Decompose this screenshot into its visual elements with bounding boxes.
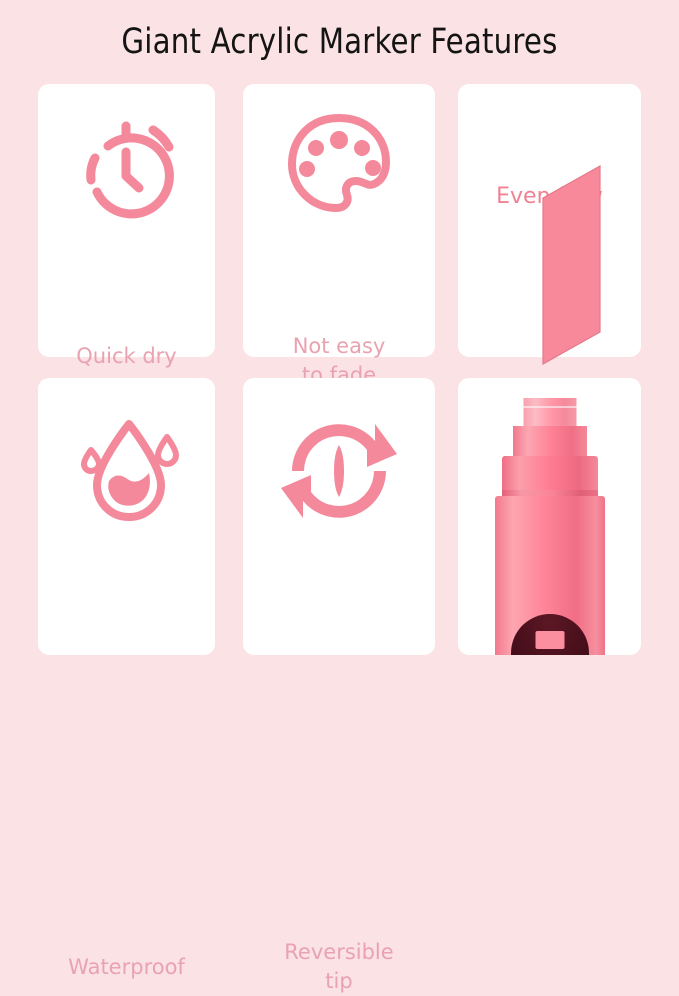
icon-container xyxy=(243,106,435,226)
paint-palette-icon xyxy=(279,108,399,224)
feature-card-waterproof[interactable]: Waterproof xyxy=(38,378,215,655)
feature-label: Quick dry xyxy=(38,342,215,371)
feature-card-not-easy-to-fade[interactable]: Not easy to fade xyxy=(243,84,435,357)
icon-container xyxy=(243,408,435,533)
feature-label: Waterproof xyxy=(38,953,215,982)
icon-container xyxy=(38,106,215,226)
feature-infographic: Giant Acrylic Marker Features Quick dry xyxy=(0,0,679,679)
page-title: Giant Acrylic Marker Features xyxy=(24,22,655,62)
marker-stroke-swatch xyxy=(472,160,628,370)
feature-label: Reversible tip xyxy=(243,938,435,996)
stopwatch-icon xyxy=(73,110,181,222)
feature-card-quick-dry[interactable]: Quick dry xyxy=(38,84,215,357)
feature-card-marker-product[interactable] xyxy=(458,378,641,655)
feature-card-reversible-tip[interactable]: Reversible tip xyxy=(243,378,435,655)
water-droplet-icon xyxy=(71,412,183,530)
circular-arrows-icon xyxy=(278,410,400,532)
icon-container xyxy=(38,408,215,533)
